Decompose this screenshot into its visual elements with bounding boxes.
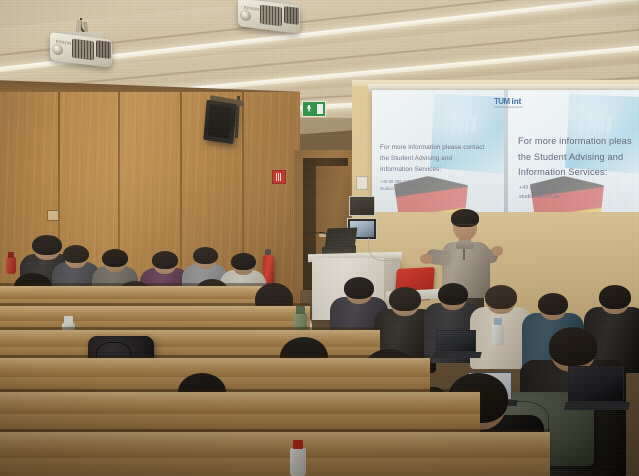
bench-row-2	[0, 306, 310, 321]
hair	[102, 249, 128, 267]
slide-left-contact: +49 89 289 22245 studium@tum.de	[380, 178, 415, 192]
slide-right-heading: For more information pleas the Student A…	[518, 134, 639, 181]
hair	[231, 253, 256, 270]
hair	[485, 285, 517, 309]
bench-row-4	[0, 358, 430, 377]
laptop-screen	[568, 366, 624, 402]
hair	[549, 327, 597, 366]
hair	[538, 293, 568, 315]
bench-front	[0, 458, 550, 476]
seating-area	[0, 0, 639, 476]
bottle-red-small-cap	[8, 252, 14, 258]
water-bottle-clear-cap	[64, 316, 72, 325]
hair	[193, 247, 218, 264]
thermos-green-cap	[296, 306, 304, 314]
hair	[152, 251, 178, 269]
tum-logo-mark: TUM	[494, 97, 510, 106]
laptop-upper[interactable]	[436, 330, 476, 352]
laptop-screen	[436, 330, 476, 352]
lecture-hall-photo: EPSON EPSON	[0, 0, 639, 476]
bottle-red-small	[6, 257, 16, 274]
slide-left-heading: For more information please contact the …	[380, 142, 496, 175]
hair	[389, 287, 421, 311]
water-bottle-right-cap	[494, 318, 502, 325]
tum-int-logo: TUM int TUM International Center	[494, 97, 521, 106]
hair	[344, 277, 374, 299]
tum-logo-tagline: TUM International Center	[494, 106, 523, 109]
hair	[599, 285, 631, 309]
water-bottle-red-cap-cap	[293, 440, 303, 449]
laptop-right[interactable]	[568, 366, 624, 402]
tum-logo-suffix: int	[512, 97, 522, 106]
hair	[438, 283, 468, 305]
water-bottle-red-cap	[290, 448, 306, 476]
bench-row-5	[0, 392, 480, 414]
bench-row-6	[0, 432, 550, 458]
slide-right-contact: +49 89 289 22245 studium@tum.de	[519, 184, 563, 202]
hair	[63, 245, 89, 263]
laptop-base	[564, 402, 630, 410]
water-bottle-right	[492, 324, 504, 346]
